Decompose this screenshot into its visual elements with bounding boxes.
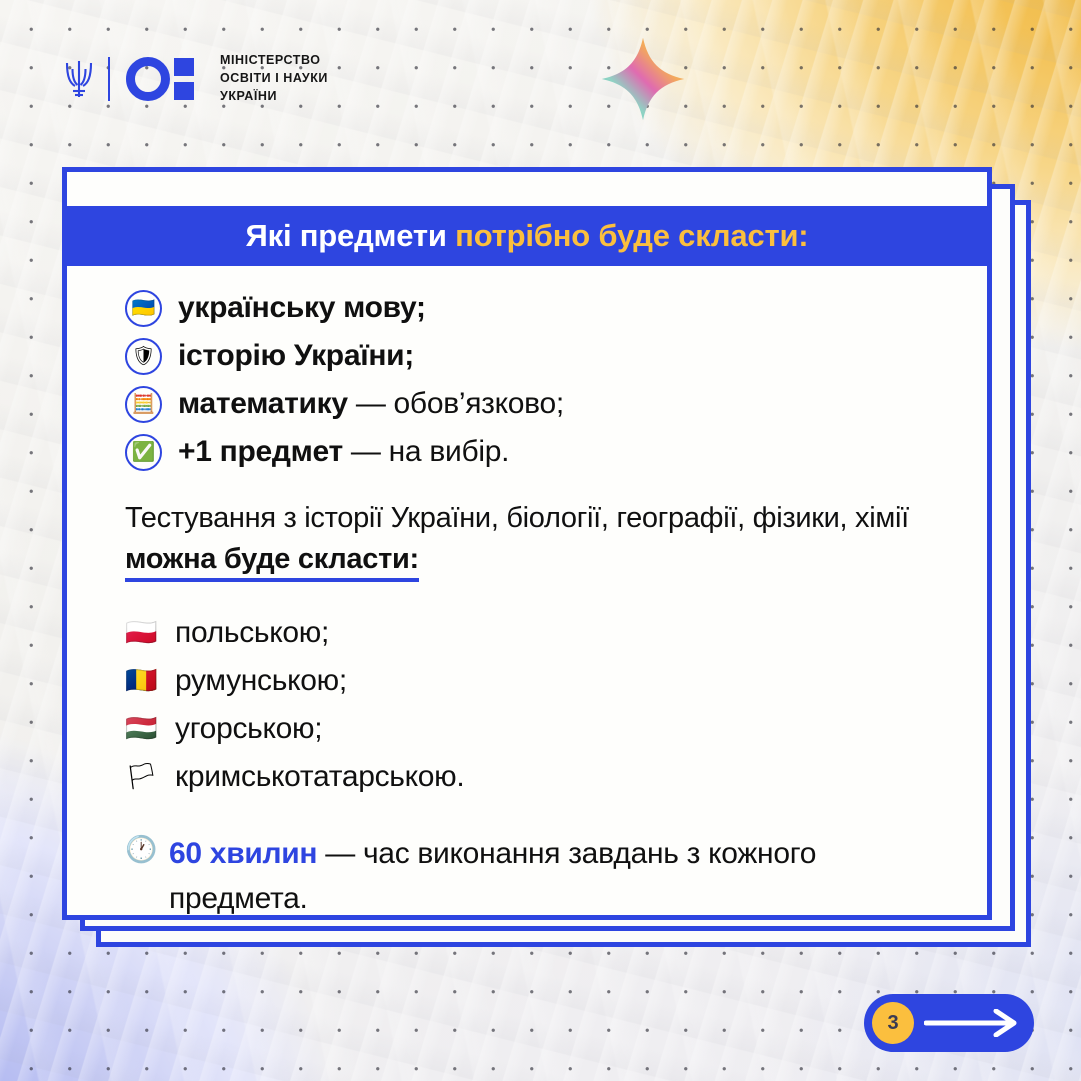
mon-logo-mark-icon — [124, 56, 208, 102]
subject-label-rest: — на вибір. — [343, 435, 509, 468]
crimean-tatar-flag-icon: 🏳 — [125, 764, 161, 790]
list-item: 🇷🇴 румунською; — [125, 657, 943, 705]
abacus-icon: 🧮 — [125, 386, 162, 423]
duration-text: 60 хвилин — час виконання завдань з кожн… — [169, 831, 943, 920]
subject-label-bold: українську мову; — [178, 291, 426, 324]
clock-icon: 🕐 — [125, 831, 157, 870]
subject-label: українську мову; — [178, 291, 426, 325]
content-card: Які предмети потрібно буде скласти: 🇺🇦 у… — [62, 167, 992, 920]
next-slide-button[interactable]: 3 — [864, 994, 1034, 1052]
ministry-logo: МІНІСТЕРСТВО ОСВІТИ І НАУКИ УКРАЇНИ — [62, 52, 328, 105]
hungary-flag-icon: 🇭🇺 — [125, 716, 161, 742]
slide-number-badge: 3 — [872, 1002, 914, 1044]
subject-label: +1 предмет — на вибір. — [178, 435, 509, 469]
list-item: 🇭🇺 угорською; — [125, 705, 943, 753]
card-banner: Які предмети потрібно буде скласти: — [67, 206, 987, 266]
duration-value: 60 хвилин — [169, 837, 317, 870]
subject-label-bold: історію України; — [178, 339, 414, 372]
card-body: 🇺🇦 українську мову; 🛡 історію України; 🧮… — [67, 266, 987, 920]
language-label: угорською; — [175, 712, 322, 746]
list-item: 🛡 історію України; — [125, 332, 943, 380]
list-item: 🇺🇦 українську мову; — [125, 284, 943, 332]
card-top-strip — [67, 172, 987, 206]
slide-root: МІНІСТЕРСТВО ОСВІТИ І НАУКИ УКРАЇНИ Які … — [0, 0, 1081, 1081]
language-list: 🇵🇱 польською; 🇷🇴 румунською; 🇭🇺 угорсько… — [125, 609, 943, 801]
subject-label: математику — обов’язково; — [178, 387, 564, 421]
four-point-star-sparkle-icon — [600, 36, 686, 122]
list-item: ✅ +1 предмет — на вибір. — [125, 428, 943, 476]
ministry-logo-text: МІНІСТЕРСТВО ОСВІТИ І НАУКИ УКРАЇНИ — [220, 52, 328, 105]
ukraine-flag-icon: 🇺🇦 — [125, 290, 162, 327]
subject-label-rest: — обов’язково; — [348, 387, 564, 420]
shield-icon: 🛡 — [125, 338, 162, 375]
page-title-white: Які предмети — [246, 218, 456, 253]
poland-flag-icon: 🇵🇱 — [125, 620, 161, 646]
page-title-amber: потрібно буде скласти: — [455, 218, 808, 253]
subject-list: 🇺🇦 українську мову; 🛡 історію України; 🧮… — [125, 284, 943, 476]
testing-paragraph: Тестування з історії України, біології, … — [125, 498, 943, 580]
ukraine-trident-icon — [62, 55, 96, 103]
list-item: 🧮 математику — обов’язково; — [125, 380, 943, 428]
language-label: кримськотатарською. — [175, 760, 464, 794]
paragraph-emphasis: можна буде скласти: — [125, 543, 419, 582]
subject-label-bold: математику — [178, 387, 348, 420]
paragraph-lead: Тестування з історії України, біології, … — [125, 502, 909, 534]
check-mark-icon: ✅ — [125, 434, 162, 471]
arrow-right-icon — [924, 1009, 1024, 1037]
language-label: румунською; — [175, 664, 347, 698]
language-label: польською; — [175, 616, 329, 650]
list-item: 🏳 кримськотатарською. — [125, 753, 943, 801]
page-title: Які предмети потрібно буде скласти: — [246, 218, 809, 254]
duration-note: 🕐 60 хвилин — час виконання завдань з ко… — [125, 831, 943, 920]
logo-divider — [108, 57, 110, 101]
subject-label: історію України; — [178, 339, 414, 373]
subject-label-bold: +1 предмет — [178, 435, 343, 468]
romania-flag-icon: 🇷🇴 — [125, 668, 161, 694]
list-item: 🇵🇱 польською; — [125, 609, 943, 657]
